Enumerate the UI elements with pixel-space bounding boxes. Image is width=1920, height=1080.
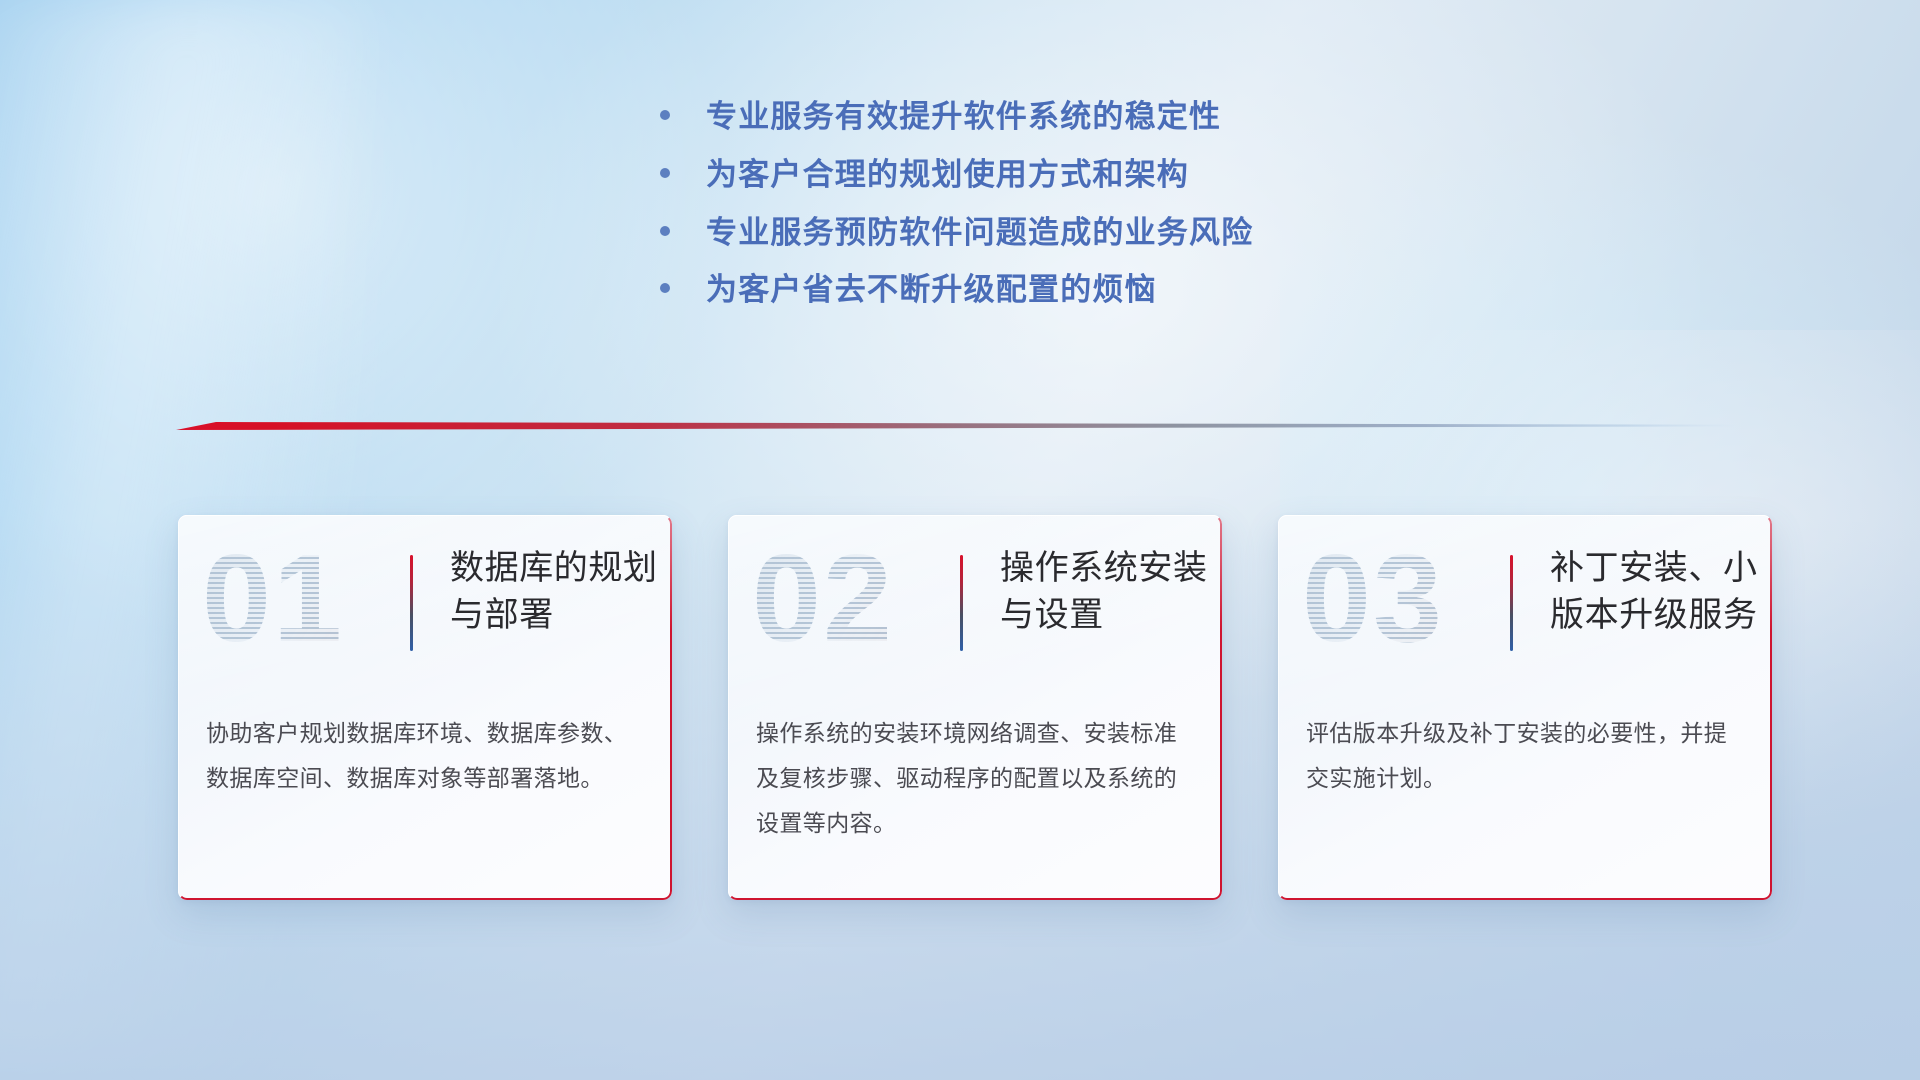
bullet-text: 为客户合理的规划使用方式和架构 [706, 156, 1189, 194]
list-item: 专业服务有效提升软件系统的稳定性 [660, 98, 1360, 136]
bullet-dot-icon [660, 110, 670, 120]
card-header: 02 02 操作系统安装与设置 [728, 515, 1222, 695]
card-title: 数据库的规划与部署 [450, 545, 662, 639]
card-body-text: 操作系统的安装环境网络调查、安装标准及复核步骤、驱动程序的配置以及系统的设置等内… [756, 711, 1196, 846]
service-card[interactable]: 02 02 操作系统安装与设置 操作系统的安装环境网络调查、安装标准及复核步骤、… [728, 515, 1222, 900]
card-title: 操作系统安装与设置 [1000, 545, 1212, 639]
service-card-row: 01 01 数据库的规划与部署 协助客户规划数据库环境、数据库参数、数据库空间、… [178, 515, 1772, 900]
card-header: 01 01 数据库的规划与部署 [178, 515, 672, 695]
card-number-ghost: 02 [752, 537, 894, 661]
service-card[interactable]: 03 03 补丁安装、小版本升级服务 评估版本升级及补丁安装的必要性，并提交实施… [1278, 515, 1772, 900]
section-divider [176, 416, 1736, 438]
card-title-rule [410, 555, 413, 651]
card-body-text: 协助客户规划数据库环境、数据库参数、数据库空间、数据库对象等部署落地。 [206, 711, 646, 801]
bullet-text: 专业服务预防软件问题造成的业务风险 [706, 214, 1253, 252]
bullet-dot-icon [660, 226, 670, 236]
list-item: 为客户省去不断升级配置的烦恼 [660, 271, 1360, 309]
list-item: 专业服务预防软件问题造成的业务风险 [660, 214, 1360, 252]
card-body-text: 评估版本升级及补丁安装的必要性，并提交实施计划。 [1306, 711, 1746, 801]
card-title: 补丁安装、小版本升级服务 [1550, 545, 1762, 639]
bullet-text: 专业服务有效提升软件系统的稳定性 [706, 98, 1221, 136]
card-number-ghost: 03 [1302, 537, 1444, 661]
benefits-bullet-list: 专业服务有效提升软件系统的稳定性 为客户合理的规划使用方式和架构 专业服务预防软… [660, 98, 1360, 329]
card-number-ghost: 01 [202, 537, 344, 661]
service-card[interactable]: 01 01 数据库的规划与部署 协助客户规划数据库环境、数据库参数、数据库空间、… [178, 515, 672, 900]
card-title-rule [960, 555, 963, 651]
card-header: 03 03 补丁安装、小版本升级服务 [1278, 515, 1772, 695]
list-item: 为客户合理的规划使用方式和架构 [660, 156, 1360, 194]
bullet-dot-icon [660, 168, 670, 178]
bullet-dot-icon [660, 283, 670, 293]
bullet-text: 为客户省去不断升级配置的烦恼 [706, 271, 1157, 309]
card-title-rule [1510, 555, 1513, 651]
